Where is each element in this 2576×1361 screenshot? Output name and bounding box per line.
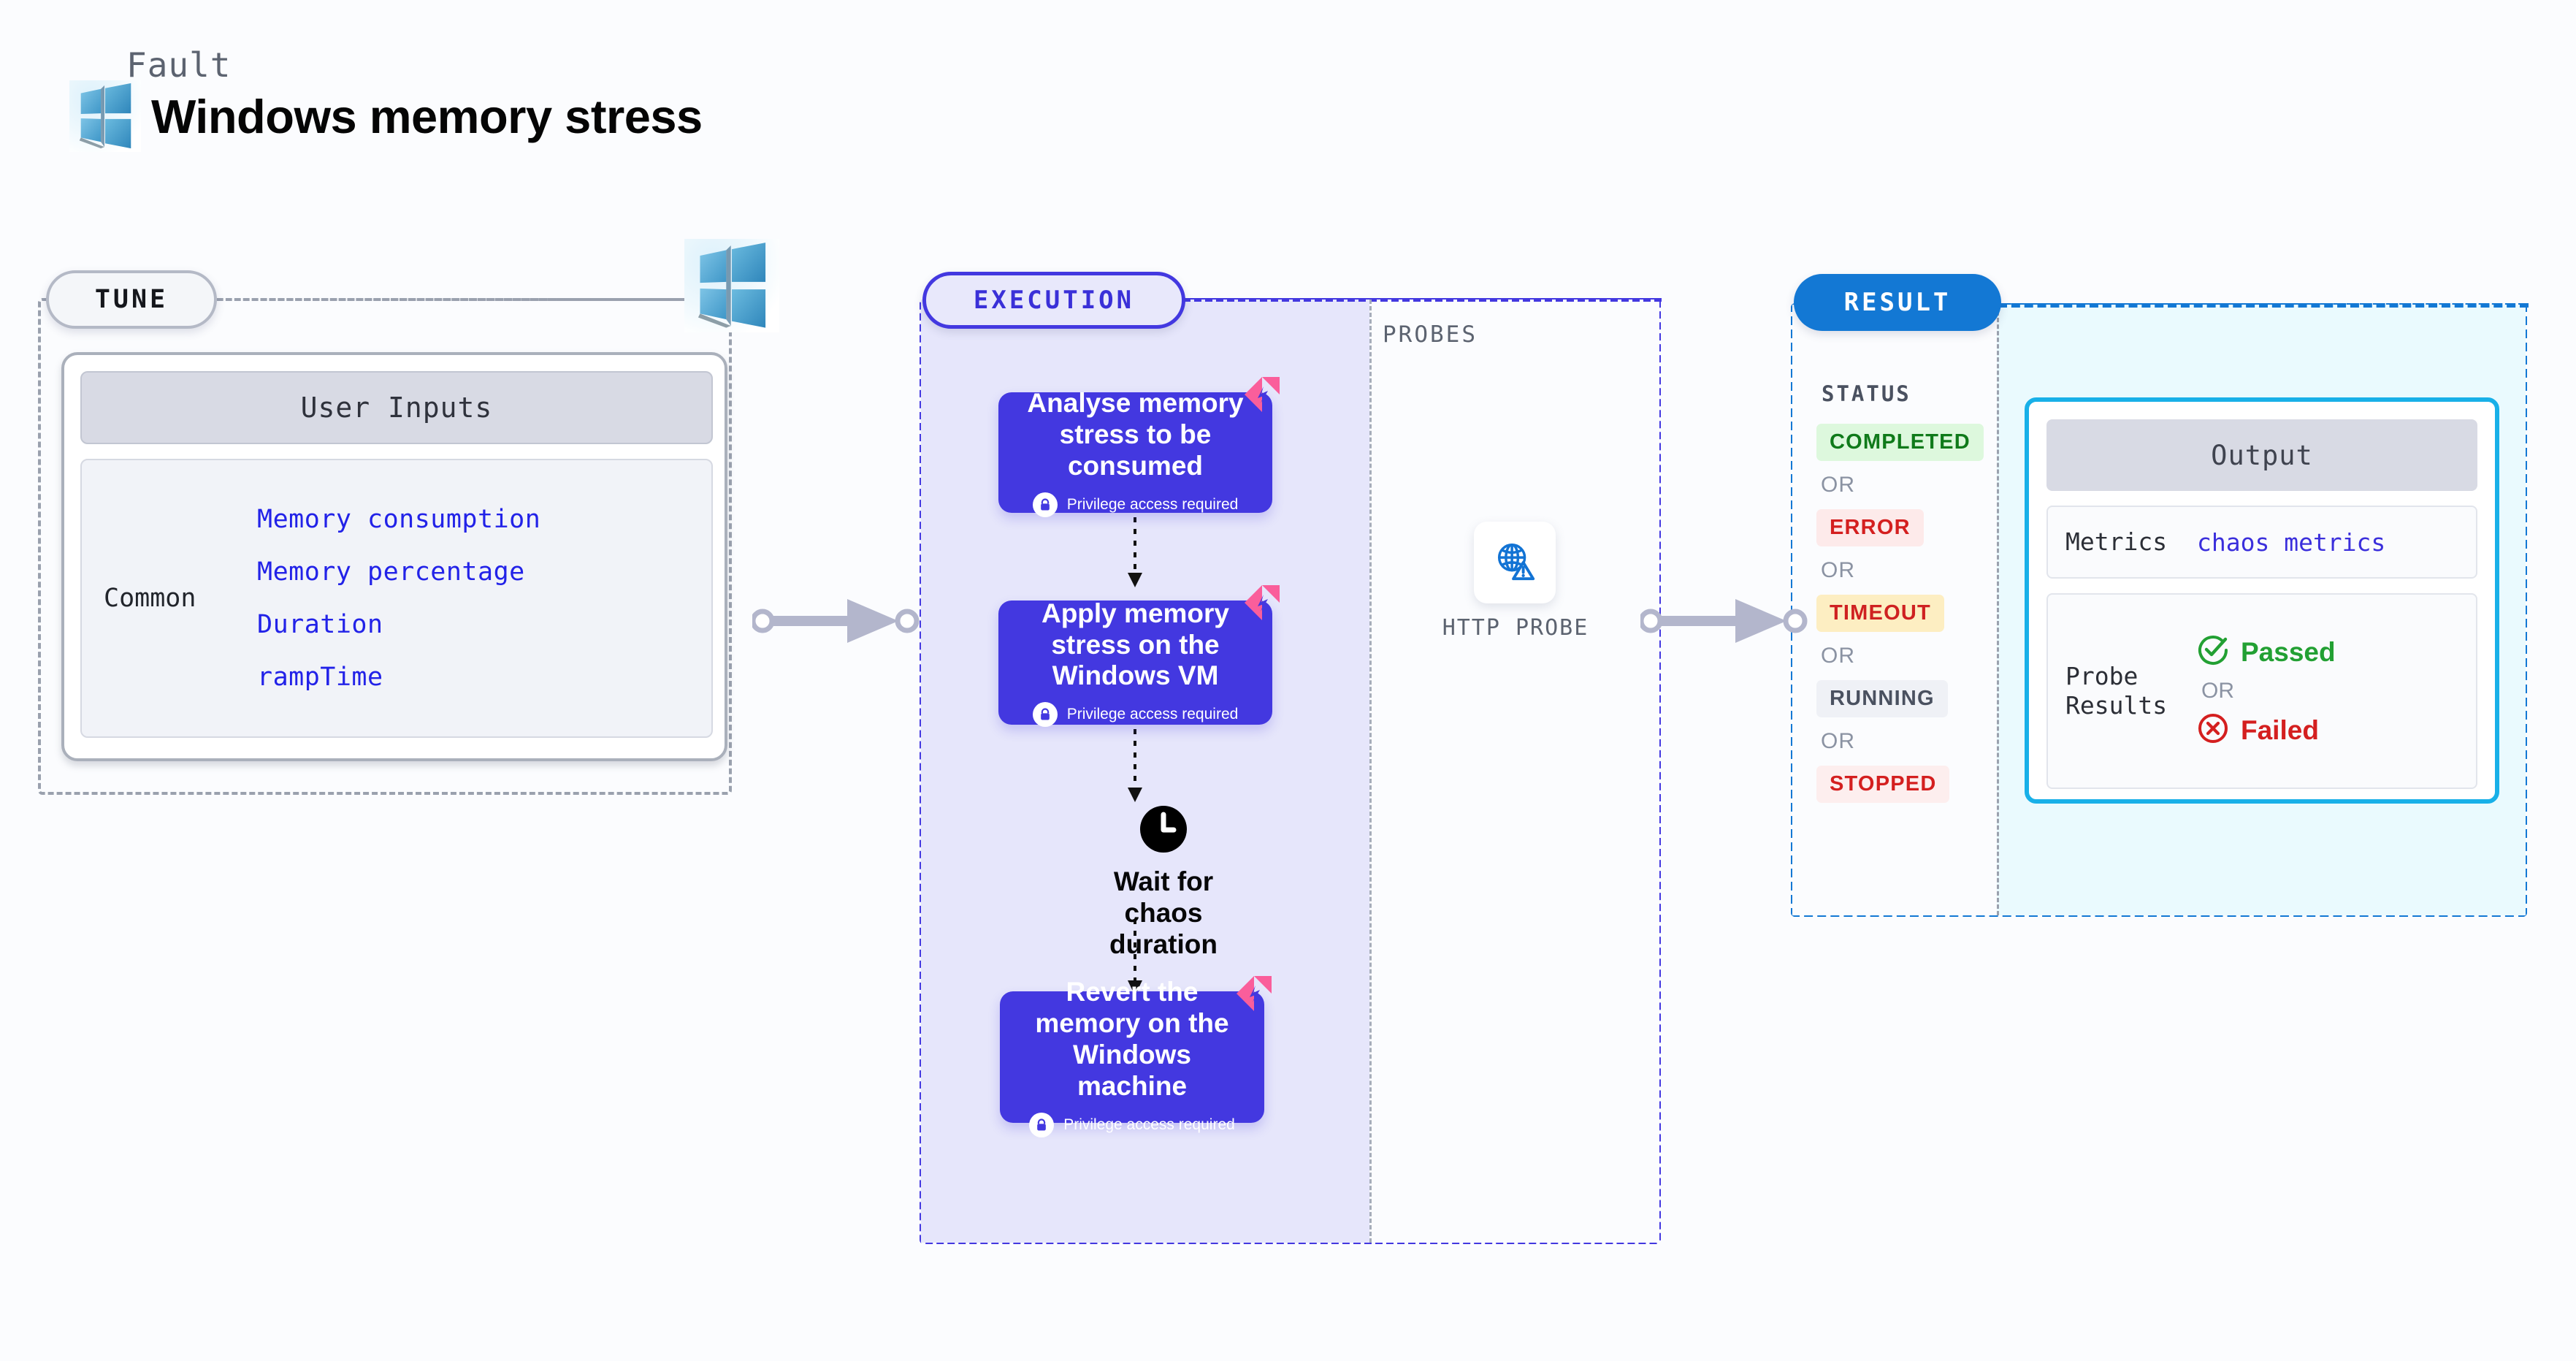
status-badge: COMPLETED (1816, 424, 1984, 461)
param-item[interactable]: Memory consumption (257, 505, 540, 534)
metrics-value[interactable]: chaos metrics (2197, 528, 2385, 557)
or-separator: OR (1821, 558, 1855, 583)
execution-node-title: Analyse memory stress to be consumed (998, 388, 1272, 482)
metrics-key: Metrics (2065, 527, 2197, 557)
page-header: Fault Windows memory (69, 45, 703, 152)
user-inputs-header: User Inputs (80, 371, 713, 444)
user-inputs-card: User Inputs Common Memory consumption Me… (61, 352, 727, 761)
tune-dashed-connector (217, 298, 735, 301)
windows-platform-icon (684, 239, 779, 332)
or-separator: OR (1821, 644, 1855, 668)
check-circle-icon (2197, 634, 2229, 670)
node-flow-arrow (1120, 517, 1150, 590)
node-flow-arrow (1120, 729, 1150, 806)
execution-node[interactable]: Apply memory stress on the Windows VM Pr… (998, 601, 1272, 725)
tune-pill-label: TUNE (95, 285, 168, 314)
probes-background (1369, 300, 1659, 1243)
tune-to-execution-connector (752, 584, 928, 657)
result-pill-label: RESULT (1844, 288, 1952, 317)
user-inputs-body: Common Memory consumption Memory percent… (80, 459, 713, 738)
status-badge: STOPPED (1816, 766, 1949, 803)
execution-node[interactable]: Revert the memory on the Windows machine… (1000, 991, 1264, 1123)
param-item[interactable]: rampTime (257, 663, 540, 692)
title-row: Windows memory stress (69, 80, 703, 152)
execution-node-title: Apply memory stress on the Windows VM (998, 598, 1272, 693)
execution-node[interactable]: Analyse memory stress to be consumed Pri… (998, 392, 1272, 513)
tune-section-pill: TUNE (46, 270, 217, 329)
privilege-text: Privilege access required (1063, 1116, 1235, 1134)
page-title: Windows memory stress (151, 89, 703, 144)
clock-icon (1139, 804, 1188, 858)
lock-icon (1033, 492, 1058, 517)
probe-results-key: Probe Results (2065, 662, 2197, 720)
globe-warning-icon (1492, 538, 1537, 587)
x-circle-icon (2197, 712, 2229, 748)
probe-outcome-passed: Passed (2197, 634, 2336, 670)
probe-outcome-failed: Failed (2197, 712, 2319, 748)
lock-icon (1033, 702, 1058, 727)
litmus-chaos-icon (1234, 973, 1274, 1014)
status-badge: ERROR (1816, 509, 1924, 546)
param-list: Memory consumption Memory percentage Dur… (257, 505, 540, 692)
windows-logo-icon (69, 80, 141, 152)
param-group-label: Common (104, 584, 257, 613)
execution-node-title: Revert the memory on the Windows machine (1000, 977, 1264, 1102)
fault-kind-label: Fault (126, 45, 703, 85)
litmus-chaos-icon (1242, 374, 1283, 415)
privilege-text: Privilege access required (1067, 496, 1239, 514)
privilege-row: Privilege access required (1033, 702, 1239, 727)
http-probe-card[interactable] (1474, 522, 1556, 603)
or-separator: OR (1821, 729, 1855, 754)
privilege-text: Privilege access required (1067, 706, 1239, 723)
metrics-row: Metrics chaos metrics (2046, 506, 2477, 579)
or-separator: OR (1821, 473, 1855, 497)
probe-results-row: Probe Results Passed OR (2046, 593, 2477, 789)
status-badge: TIMEOUT (1816, 595, 1944, 632)
execution-section-pill: EXECUTION (922, 272, 1185, 329)
status-badge: RUNNING (1816, 680, 1948, 717)
execution-pill-label: EXECUTION (974, 286, 1134, 315)
failed-label: Failed (2241, 715, 2319, 746)
result-section-pill: RESULT (1794, 274, 2001, 331)
output-header: Output (2046, 419, 2477, 491)
lock-icon (1029, 1113, 1054, 1137)
privilege-row: Privilege access required (1029, 1113, 1235, 1137)
probes-divider (1369, 300, 1372, 1243)
execution-dashed-connector (1183, 298, 1662, 302)
param-item[interactable]: Memory percentage (257, 557, 540, 587)
status-list: COMPLETED OR ERROR OR TIMEOUT OR RUNNING… (1816, 424, 1999, 803)
output-card: Output Metrics chaos metrics Probe Resul… (2025, 397, 2499, 804)
result-dashed-connector (1998, 303, 2529, 308)
http-probe-label: HTTP PROBE (1428, 615, 1603, 641)
probe-outcome-list: Passed OR Failed (2197, 634, 2336, 748)
litmus-chaos-icon (1242, 582, 1283, 623)
privilege-row: Privilege access required (1033, 492, 1239, 517)
wait-node-caption: Wait for chaos duration (1079, 866, 1247, 961)
param-item[interactable]: Duration (257, 610, 540, 639)
passed-label: Passed (2241, 637, 2336, 668)
or-separator: OR (2201, 679, 2234, 704)
wait-node[interactable]: Wait for chaos duration (1079, 804, 1247, 961)
execution-to-result-connector (1640, 584, 1816, 657)
status-heading: STATUS (1822, 381, 1911, 406)
probes-section-label: PROBES (1383, 321, 1478, 348)
